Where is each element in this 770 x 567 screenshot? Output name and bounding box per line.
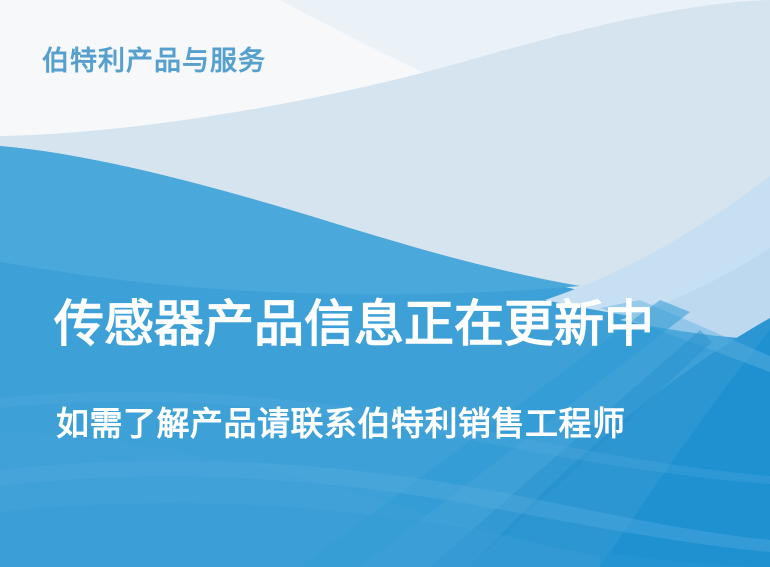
- sub-headline: 如需了解产品请联系伯特利销售工程师: [56, 405, 626, 443]
- main-headline: 传感器产品信息正在更新中: [54, 296, 654, 352]
- product-placeholder-banner: 伯特利产品与服务 传感器产品信息正在更新中 如需了解产品请联系伯特利销售工程师: [0, 0, 770, 567]
- text-layer: 伯特利产品与服务 传感器产品信息正在更新中 如需了解产品请联系伯特利销售工程师: [0, 0, 770, 567]
- page-title: 伯特利产品与服务: [42, 46, 266, 78]
